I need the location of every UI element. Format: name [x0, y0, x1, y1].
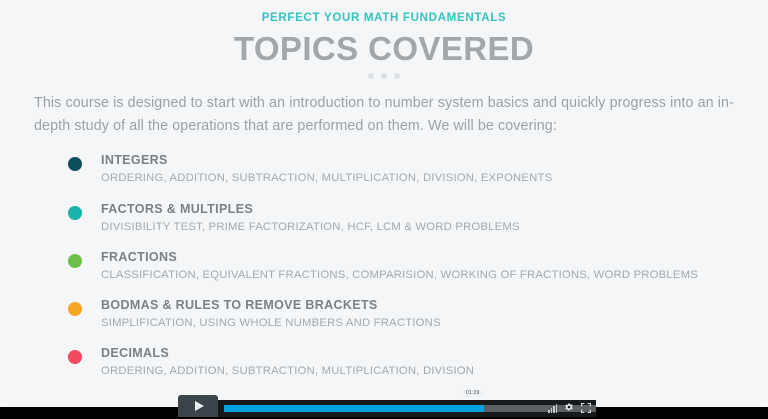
list-item: BODMAS & RULES TO REMOVE BRACKETS SIMPLI… — [68, 297, 768, 331]
play-icon — [195, 401, 204, 411]
fullscreen-icon[interactable] — [581, 400, 591, 418]
topics-list: INTEGERS ORDERING, ADDITION, SUBTRACTION… — [68, 152, 768, 379]
topic-description: DIVISIBILITY TEST, PRIME FACTORIZATION, … — [101, 219, 768, 235]
player-right-controls — [548, 400, 591, 417]
topic-title: BODMAS & RULES TO REMOVE BRACKETS — [101, 297, 768, 314]
bullet-dot-icon — [68, 302, 82, 316]
topic-description: ORDERING, ADDITION, SUBTRACTION, MULTIPL… — [101, 170, 768, 186]
topic-title: FACTORS & MULTIPLES — [101, 201, 768, 218]
slide-gutter-left — [0, 0, 6, 407]
divider-dot-1 — [368, 73, 374, 79]
intro-paragraph: This course is designed to start with an… — [34, 92, 734, 138]
seek-time-tooltip: 01:29 — [463, 390, 483, 397]
bullet-dot-icon — [68, 206, 82, 220]
bullet-dot-icon — [68, 350, 82, 364]
topic-title: FRACTIONS — [101, 249, 768, 266]
video-player-viewport: PERFECT YOUR MATH FUNDAMENTALS TOPICS CO… — [0, 0, 768, 419]
progress-fill — [224, 405, 484, 412]
volume-icon[interactable] — [548, 404, 557, 413]
divider-dot-2 — [381, 73, 387, 79]
topic-description: SIMPLIFICATION, USING WHOLE NUMBERS AND … — [101, 315, 768, 331]
page-title: TOPICS COVERED — [0, 32, 768, 67]
volume-bar-1 — [548, 410, 550, 413]
gear-icon[interactable] — [564, 400, 574, 418]
list-item: FACTORS & MULTIPLES DIVISIBILITY TEST, P… — [68, 201, 768, 235]
volume-bar-3 — [553, 406, 555, 413]
dot-divider — [0, 73, 768, 79]
list-item: INTEGERS ORDERING, ADDITION, SUBTRACTION… — [68, 152, 768, 186]
topic-description: ORDERING, ADDITION, SUBTRACTION, MULTIPL… — [101, 363, 768, 379]
control-strip: 01:29 — [218, 400, 596, 417]
list-item: DECIMALS ORDERING, ADDITION, SUBTRACTION… — [68, 345, 768, 379]
volume-bar-2 — [551, 408, 553, 413]
divider-dot-3 — [394, 73, 400, 79]
play-button[interactable] — [178, 395, 218, 417]
seek-bar[interactable] — [224, 405, 596, 412]
bullet-dot-icon — [68, 157, 82, 171]
topic-title: DECIMALS — [101, 345, 768, 362]
bullet-dot-icon — [68, 254, 82, 268]
list-item: FRACTIONS CLASSIFICATION, EQUIVALENT FRA… — [68, 249, 768, 283]
slide-content: PERFECT YOUR MATH FUNDAMENTALS TOPICS CO… — [0, 0, 768, 407]
volume-bar-4 — [556, 404, 558, 413]
player-control-bar: 01:29 — [178, 393, 596, 417]
slide-kicker: PERFECT YOUR MATH FUNDAMENTALS — [0, 13, 768, 25]
topic-description: CLASSIFICATION, EQUIVALENT FRACTIONS, CO… — [101, 267, 768, 283]
topic-title: INTEGERS — [101, 152, 768, 169]
